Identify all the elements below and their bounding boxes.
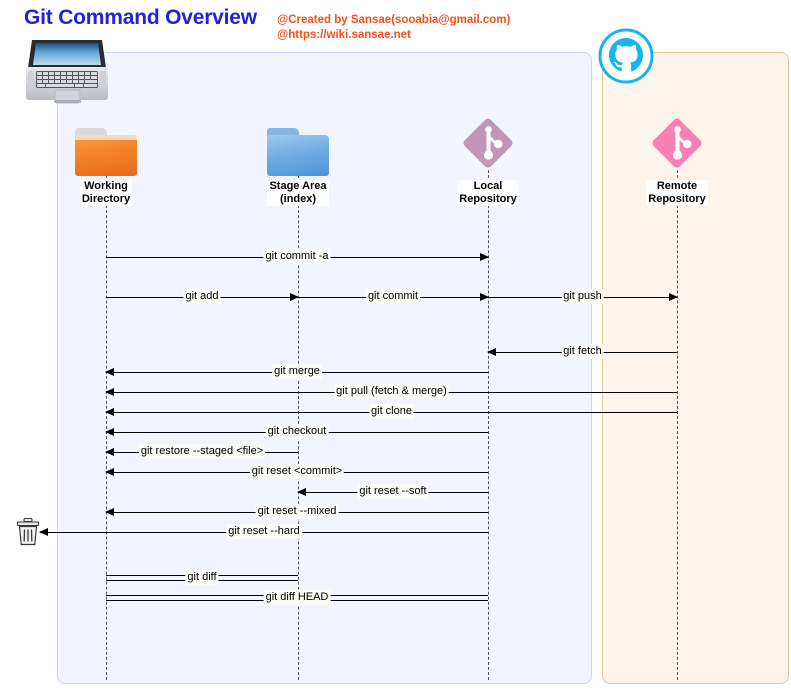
message-git-reset-soft[interactable]: git reset --soft — [298, 492, 488, 493]
actor-remote-repository[interactable]: Remote Repository — [607, 120, 747, 207]
arrowhead-left-icon — [105, 468, 114, 476]
message-label: git checkout — [266, 424, 329, 439]
actor-local-repository[interactable]: Local Repository — [418, 120, 558, 207]
message-label: git merge — [272, 364, 322, 379]
blue-folder-icon — [267, 128, 329, 176]
actor-icon-local-repository — [418, 120, 558, 176]
lifeline-working-directory — [106, 170, 107, 680]
actor-label-remote-repository: Remote Repository — [646, 180, 707, 206]
arrowhead-right-icon — [480, 253, 489, 261]
message-git-diff-head[interactable]: git diff HEAD — [106, 595, 488, 596]
laptop-icon — [24, 38, 110, 110]
credit-author: @Created by Sansae(sooabia@gmail.com) — [277, 13, 510, 28]
message-git-commit[interactable]: git commit — [298, 297, 488, 298]
message-label: git reset --mixed — [256, 504, 339, 519]
page-title: Git Command Overview — [24, 6, 257, 30]
message-git-restore-staged[interactable]: git restore --staged <file> — [106, 452, 298, 453]
arrowhead-left-icon — [39, 528, 48, 536]
message-git-clone[interactable]: git clone — [106, 412, 677, 413]
github-octocat-logo — [598, 28, 654, 84]
message-label: git commit -a — [264, 249, 331, 264]
message-label: git commit — [366, 289, 420, 304]
message-label: git diff HEAD — [264, 590, 331, 605]
lifeline-remote-repository — [677, 170, 678, 680]
actor-label-local-repository: Local Repository — [457, 180, 518, 206]
message-label: git push — [561, 289, 604, 304]
git-logo-local — [460, 115, 516, 176]
message-label: git add — [183, 289, 220, 304]
message-label: git pull (fetch & merge) — [334, 384, 449, 399]
arrowhead-left-icon — [105, 408, 114, 416]
arrowhead-left-icon — [105, 368, 114, 376]
arrowhead-left-icon — [297, 488, 306, 496]
message-label: git diff — [185, 570, 218, 585]
message-git-reset-mixed[interactable]: git reset --mixed — [106, 512, 488, 513]
git-logo-remote — [649, 115, 705, 176]
message-git-push[interactable]: git push — [488, 297, 677, 298]
message-label: git reset <commit> — [250, 464, 344, 479]
message-git-diff[interactable]: git diff — [106, 575, 298, 576]
orange-folder-icon — [75, 128, 137, 176]
message-label: git restore --staged <file> — [139, 444, 265, 459]
message-label: git fetch — [561, 344, 604, 359]
actor-stage-area[interactable]: Stage Area (index) — [228, 120, 368, 207]
arrowhead-left-icon — [487, 348, 496, 356]
message-git-reset-hard[interactable]: git reset --hard — [40, 532, 488, 533]
credit-url: @https://wiki.sansae.net — [277, 28, 510, 43]
message-git-fetch[interactable]: git fetch — [488, 352, 677, 353]
actor-label-working-directory: Working Directory — [80, 180, 132, 206]
actor-label-stage-area: Stage Area (index) — [267, 180, 328, 206]
message-label: git clone — [369, 404, 414, 419]
arrowhead-left-icon — [105, 508, 114, 516]
arrowhead-right-icon — [669, 293, 678, 301]
credits-block: @Created by Sansae(sooabia@gmail.com) @h… — [277, 13, 510, 43]
actor-icon-working-directory — [36, 120, 176, 176]
message-git-checkout[interactable]: git checkout — [106, 432, 488, 433]
message-label: git reset --hard — [226, 524, 302, 539]
actor-icon-stage-area — [228, 120, 368, 176]
arrowhead-left-icon — [105, 428, 114, 436]
message-git-merge[interactable]: git merge — [106, 372, 488, 373]
actor-icon-remote-repository — [607, 120, 747, 176]
git-command-overview-diagram: Git Command Overview @Created by Sansae(… — [0, 0, 791, 692]
message-git-pull[interactable]: git pull (fetch & merge) — [106, 392, 677, 393]
message-label: git reset --soft — [357, 484, 428, 499]
arrowhead-left-icon — [105, 388, 114, 396]
message-git-reset-commit[interactable]: git reset <commit> — [106, 472, 488, 473]
trash-can-icon — [15, 518, 41, 546]
actor-working-directory[interactable]: Working Directory — [36, 120, 176, 207]
lifeline-local-repository — [488, 170, 489, 680]
message-git-commit-a[interactable]: git commit -a — [106, 257, 488, 258]
arrowhead-left-icon — [105, 448, 114, 456]
message-git-add[interactable]: git add — [106, 297, 298, 298]
